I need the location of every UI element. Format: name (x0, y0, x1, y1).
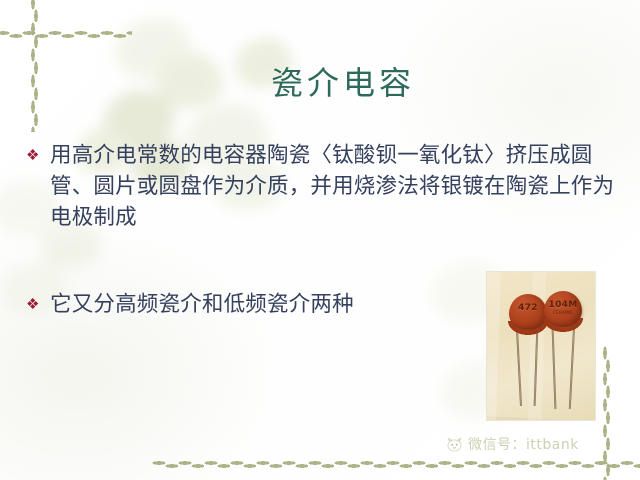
border-wave-top-horizontal (0, 30, 132, 39)
border-wave-bottom-vertical (602, 346, 611, 480)
slide-canvas: 瓷介电容 ❖ 用高介电常数的电容器陶瓷〈钛酸钡一氧化钛〉挤压成圆管、圆片或圆盘作… (0, 0, 640, 480)
capacitor-lead (516, 328, 522, 406)
ceramic-capacitor-photo: 472 104M CERAMIC (487, 272, 595, 420)
wechat-watermark-text: 微信号：ittbank (468, 434, 579, 454)
diamond-bullet-icon: ❖ (26, 148, 47, 163)
page-title: 瓷介电容 (0, 58, 640, 104)
capacitor-lead (552, 325, 557, 409)
border-wave-bottom-horizontal (152, 460, 640, 469)
capacitor-lead (534, 328, 539, 406)
capacitor-code-label: 104M (544, 300, 582, 310)
bullet-item: ❖ 用高介电常数的电容器陶瓷〈钛酸钡一氧化钛〉挤压成圆管、圆片或圆盘作为介质，并… (26, 140, 618, 233)
capacitor-subcode-label: CERAMIC (544, 311, 582, 316)
bullet-item-text: 用高介电常数的电容器陶瓷〈钛酸钡一氧化钛〉挤压成圆管、圆片或圆盘作为介质，并用烧… (50, 140, 618, 233)
capacitor-lead (569, 325, 575, 409)
wechat-watermark: 微信号：ittbank (446, 434, 579, 454)
capacitor-code-label: 472 (509, 303, 547, 313)
cat-face-icon (446, 437, 463, 452)
diamond-bullet-icon: ❖ (26, 297, 47, 312)
